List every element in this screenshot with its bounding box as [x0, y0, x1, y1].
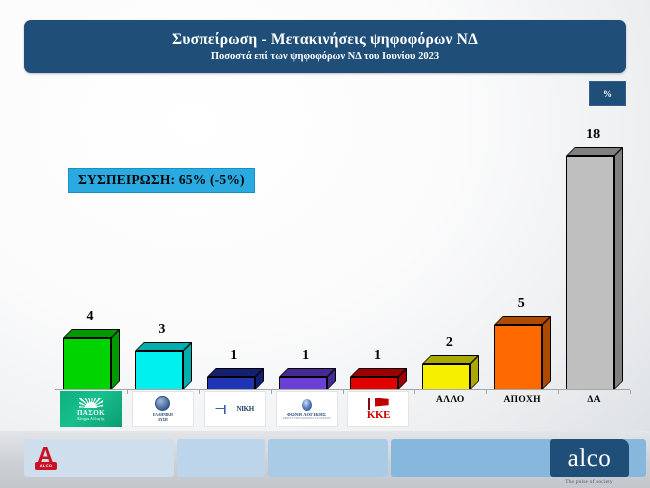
bar-column: 5: [494, 110, 542, 390]
bar-top-face: [350, 368, 407, 377]
bar-column: 1: [207, 110, 255, 390]
bar-value-label: 1: [210, 348, 258, 364]
pasok-sun-icon: [79, 398, 103, 408]
bar-value-label: 1: [282, 348, 330, 364]
foni-logikis-logo: ΦΩΝΗ ΛΟΓΙΚΗΣΑΦΗΣΤΕ ΤΗΝ ΚΟΙΝΩΝΙΑ ΝΑ ΜΙΛΗΣ…: [276, 391, 338, 427]
bar-side-face: [542, 316, 551, 390]
bar-column: 18: [566, 110, 614, 390]
bar-side-face: [111, 329, 120, 390]
alco-a-icon: A ALCO: [34, 444, 60, 472]
percent-badge: %: [589, 81, 626, 106]
x-axis-labels: ΠΑΣΟΚΚίνημα ΑλλαγήςΕΛΛΗΝΙΚΗΛΥΣΗΝΙΚΗΦΩΝΗ …: [55, 391, 630, 433]
alco-logo: alco: [550, 439, 629, 477]
kke-flag-icon: [375, 398, 389, 407]
bar-top-face: [494, 316, 551, 325]
pasok-name: ΠΑΣΟΚ: [77, 409, 105, 417]
kke-pole-icon: [368, 398, 369, 410]
bar-value-label: 4: [66, 309, 114, 325]
x-axis-item-allo: ΑΛΛΟ: [414, 391, 486, 405]
pasok-subtitle: Κίνημα Αλλαγής: [77, 417, 104, 421]
slide-canvas: Συσπείρωση - Μετακινήσεις ψηφοφόρων ΝΔ Π…: [0, 0, 650, 488]
kke-flag-wrap: [368, 398, 388, 410]
niki-logo: ΝΙΚΗ: [204, 391, 266, 427]
x-axis-item-elliniki-lysi: ΕΛΛΗΝΙΚΗΛΥΣΗ: [127, 391, 199, 427]
bar-top-face: [422, 355, 479, 364]
bar-6: [422, 364, 470, 390]
alco-brand-text: alco: [568, 446, 612, 471]
alco-tagline: The pulse of society: [550, 479, 628, 485]
bar-column: 1: [279, 110, 327, 390]
x-axis-tick: [630, 390, 631, 394]
page-title: Συσπείρωση - Μετακινήσεις ψηφοφόρων ΝΔ: [172, 31, 478, 48]
foni-logikis-subtitle: ΑΦΗΣΤΕ ΤΗΝ ΚΟΙΝΩΝΙΑ ΝΑ ΜΙΛΗΣΕΙ: [282, 417, 330, 420]
x-axis-text-label: ΑΛΛΟ: [414, 391, 486, 405]
x-axis-item-pasok: ΠΑΣΟΚΚίνημα Αλλαγής: [55, 391, 127, 427]
bar-front-face: [63, 338, 111, 390]
kke-logo: ΚΚΕ: [347, 391, 409, 427]
chart-plot-area: ΣΥΣΠΕΙΡΩΣΗ: 65% (-5%) 431112518: [55, 110, 630, 390]
bar-value-label: 1: [353, 348, 401, 364]
bar-2: [135, 351, 183, 390]
x-axis-item-kke: ΚΚΕ: [343, 391, 415, 427]
bar-top-face: [63, 329, 120, 338]
bar-column: 2: [422, 110, 470, 390]
x-axis-item-da: ΔΑ: [558, 391, 630, 405]
bar-top-face: [279, 368, 336, 377]
footer-segment-2: [177, 439, 265, 477]
x-axis-text-label: ΔΑ: [558, 391, 630, 405]
bar-column: 3: [135, 110, 183, 390]
niki-mark-wrap: ΝΙΚΗ: [215, 405, 253, 414]
bar-front-face: [494, 325, 542, 390]
niki-name: ΝΙΚΗ: [236, 405, 253, 413]
page-subtitle: Ποσοστά επί των ψηφοφόρων ΝΔ του Ιουνίου…: [211, 51, 439, 62]
elliniki-lysi-emblem-icon: [155, 396, 170, 411]
bar-front-face: [135, 351, 183, 390]
x-axis-item-niki: ΝΙΚΗ: [199, 391, 271, 427]
x-axis-item-foni-logikis: ΦΩΝΗ ΛΟΓΙΚΗΣΑΦΗΣΤΕ ΤΗΝ ΚΟΙΝΩΝΙΑ ΝΑ ΜΙΛΗΣ…: [271, 391, 343, 427]
a-chip-label: ALCO: [35, 462, 57, 470]
bar-front-face: [566, 156, 614, 390]
x-axis-text-label: ΑΠΟΧΗ: [486, 391, 558, 405]
bar-group: 431112518: [55, 110, 630, 390]
footer-segment-3: [268, 439, 388, 477]
bar-top-face: [135, 342, 192, 351]
bar-side-face: [614, 147, 623, 390]
bar-value-label: 3: [138, 322, 186, 338]
title-banner: Συσπείρωση - Μετακινήσεις ψηφοφόρων ΝΔ Π…: [24, 20, 626, 73]
bar-value-label: 2: [425, 335, 473, 351]
bar-column: 1: [350, 110, 398, 390]
bar-value-label: 5: [497, 296, 545, 312]
pasok-logo: ΠΑΣΟΚΚίνημα Αλλαγής: [60, 391, 122, 427]
bar-value-label: 18: [569, 127, 617, 143]
bar-1: [63, 338, 111, 390]
bar-top-face: [207, 368, 264, 377]
elliniki-lysi-name: ΕΛΛΗΝΙΚΗΛΥΣΗ: [153, 413, 173, 422]
bar-column: 4: [63, 110, 111, 390]
bar-8: [566, 156, 614, 390]
elliniki-lysi-logo: ΕΛΛΗΝΙΚΗΛΥΣΗ: [132, 391, 194, 427]
kke-name: ΚΚΕ: [367, 410, 390, 421]
footer-bar: A ALCO alco The pulse of society: [0, 431, 650, 488]
niki-cross-icon: [215, 405, 235, 414]
bar-top-face: [566, 147, 623, 156]
x-axis-item-apoxi: ΑΠΟΧΗ: [486, 391, 558, 405]
bar-7: [494, 325, 542, 390]
bar-front-face: [422, 364, 470, 390]
foni-logikis-orb-icon: [302, 399, 312, 411]
